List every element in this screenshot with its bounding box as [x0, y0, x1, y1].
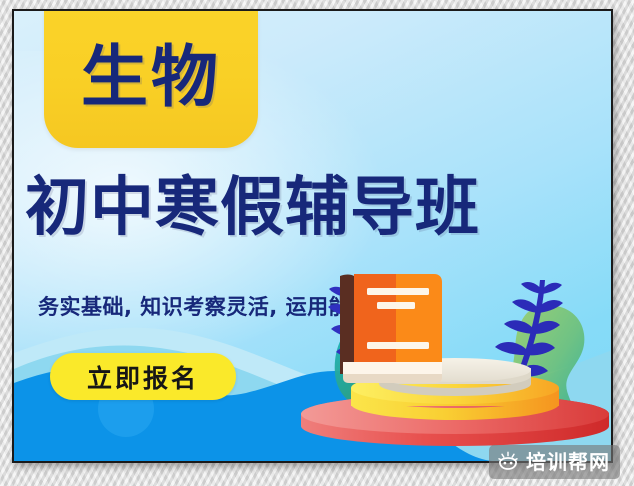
- sun-eye-icon: [497, 451, 519, 473]
- subject-badge: 生物: [44, 11, 258, 148]
- orange-book: [340, 274, 442, 383]
- poster-headline: 初中寒假辅导班: [25, 176, 605, 241]
- enroll-now-button-label: 立即报名: [87, 359, 199, 395]
- watermark-badge: 培训帮网: [489, 445, 620, 479]
- book-podium-illustration: [299, 266, 613, 451]
- subject-badge-label: 生物: [81, 44, 221, 115]
- screen-canvas: 生物 初中寒假辅导班 务实基础, 知识考察灵活, 运用能力提升 立即报名: [0, 0, 634, 486]
- poster-card: 生物 初中寒假辅导班 务实基础, 知识考察灵活, 运用能力提升 立即报名: [12, 9, 613, 463]
- watermark-label: 培训帮网: [526, 452, 610, 472]
- enroll-now-button[interactable]: 立即报名: [50, 353, 236, 400]
